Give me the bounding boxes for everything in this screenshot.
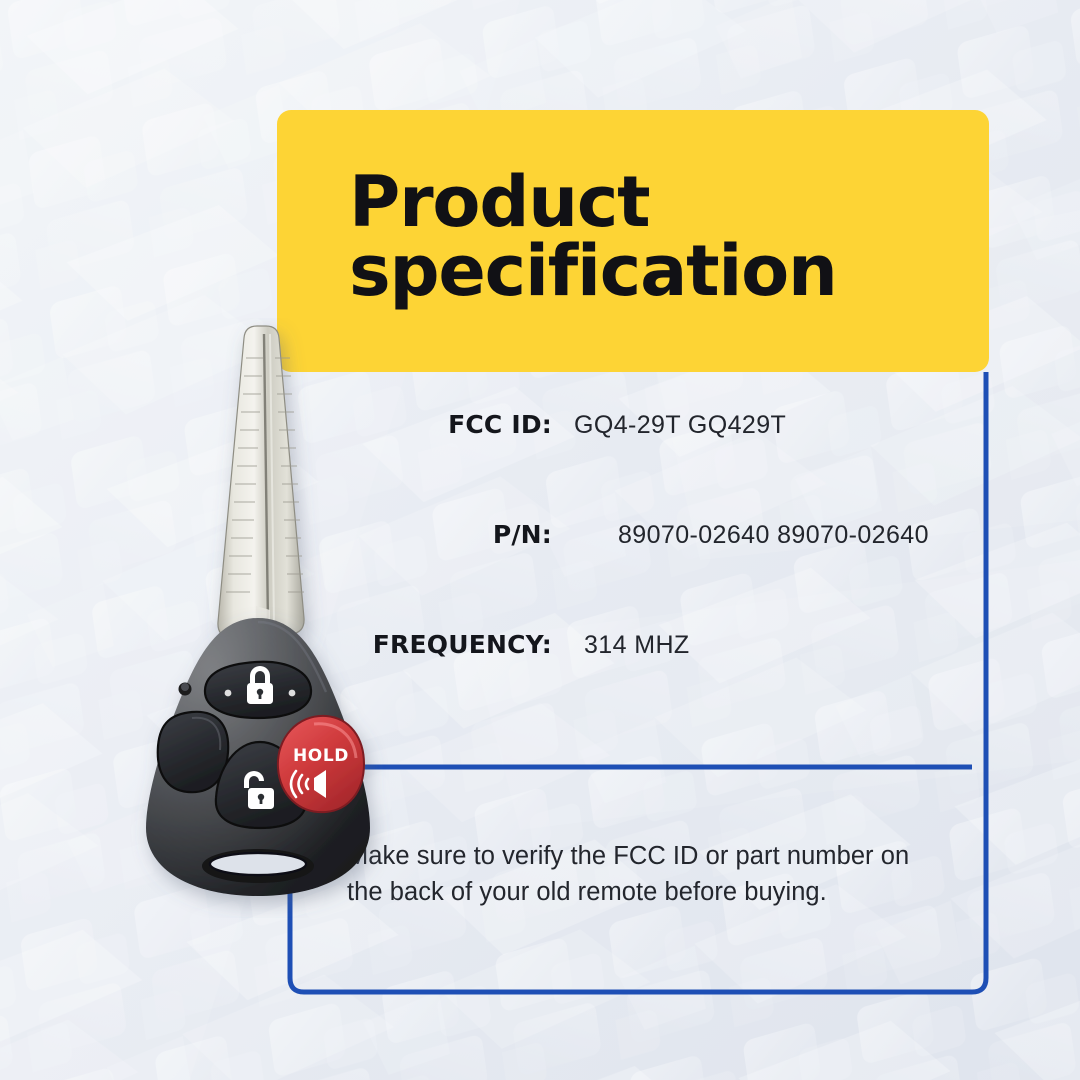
specification-list: FCC ID: GQ4-29T GQ429T P/N: 89070-02640 … bbox=[300, 410, 960, 740]
unlock-button bbox=[216, 742, 306, 828]
verification-note: Make sure to verify the FCC ID or part n… bbox=[347, 838, 947, 910]
spec-row-part-number: P/N: 89070-02640 89070-02640 bbox=[300, 520, 960, 630]
padlock-closed-icon bbox=[247, 666, 273, 704]
spec-label-frequency: FREQUENCY: bbox=[300, 630, 552, 659]
led-indicator bbox=[179, 683, 192, 696]
spec-value-frequency: 314 MHZ bbox=[552, 631, 690, 660]
spec-value-fcc-id: GQ4-29T GQ429T bbox=[552, 411, 786, 440]
trunk-button bbox=[158, 712, 228, 792]
title-card: Product specification bbox=[277, 110, 989, 372]
spec-row-fcc-id: FCC ID: GQ4-29T GQ429T bbox=[300, 410, 960, 520]
page-title: Product specification bbox=[349, 168, 941, 307]
keyring-loop bbox=[202, 849, 314, 883]
lock-button bbox=[205, 662, 311, 718]
spec-value-part-number: 89070-02640 89070-02640 bbox=[552, 521, 929, 550]
spec-label-part-number: P/N: bbox=[300, 520, 552, 549]
panic-button-label: HOLD bbox=[293, 746, 349, 766]
spec-label-fcc-id: FCC ID: bbox=[300, 410, 552, 439]
spec-row-frequency: FREQUENCY: 314 MHZ bbox=[300, 630, 960, 740]
padlock-open-icon bbox=[244, 771, 274, 809]
siren-horn-icon bbox=[291, 770, 326, 798]
key-blade bbox=[218, 326, 304, 638]
product-specification-graphic: Product specification FCC ID: GQ4-29T GQ… bbox=[0, 0, 1080, 1080]
